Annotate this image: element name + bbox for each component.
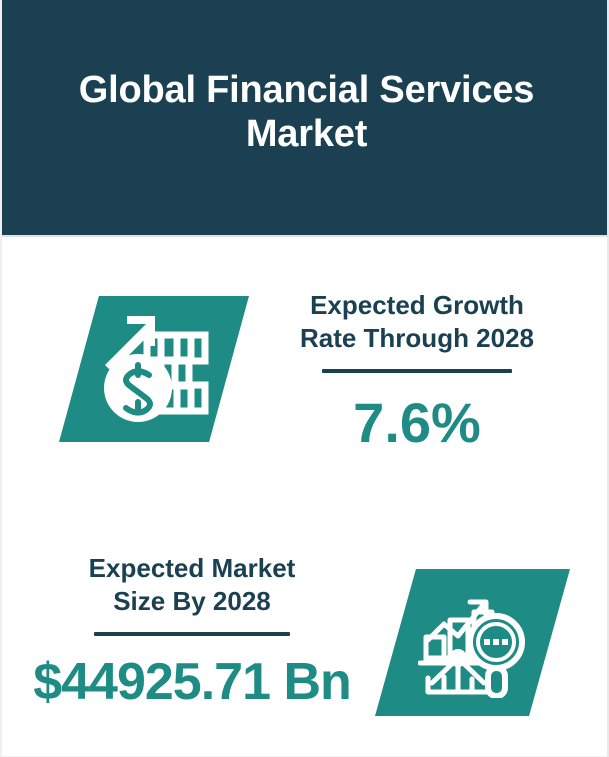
market-metric-label-line2: Size By 2028 [113, 586, 271, 616]
page-title: Global Financial Services Market [47, 69, 567, 166]
market-icon-tile [375, 569, 570, 716]
header-band: Global Financial Services Market [2, 0, 609, 237]
growth-metric-label-line2: Rate Through 2028 [300, 323, 534, 353]
growth-metric-value: 7.6% [257, 395, 577, 451]
market-metric-value: $44925.71 Bn [17, 656, 367, 708]
market-metric-label: Expected Market Size By 2028 [17, 552, 367, 619]
market-metric-label-line1: Expected Market [89, 553, 296, 583]
market-divider [94, 632, 290, 636]
infographic-card: Global Financial Services Market [0, 0, 609, 757]
growth-metric-label: Expected Growth Rate Through 2028 [257, 289, 577, 356]
market-metric-block: Expected Market Size By 2028 $44925.71 B… [17, 552, 367, 708]
growth-metric-block: Expected Growth Rate Through 2028 7.6% [257, 289, 577, 451]
growth-metric-label-line1: Expected Growth [310, 290, 524, 320]
growth-icon-tile [59, 296, 249, 442]
growth-divider [322, 369, 512, 373]
market-analysis-magnifier-icon [416, 582, 530, 703]
money-stack-growth-icon [95, 305, 213, 434]
